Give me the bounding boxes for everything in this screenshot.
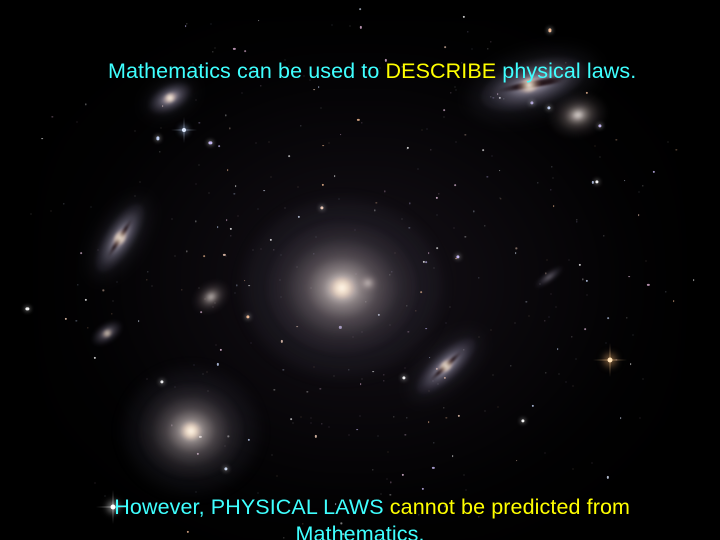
star	[445, 323, 446, 324]
star	[646, 261, 647, 262]
star	[482, 149, 484, 151]
star	[255, 143, 256, 144]
star	[138, 320, 140, 322]
caption-bottom-part1: However, PHYSICAL LAWS	[114, 495, 390, 519]
star	[298, 186, 299, 187]
star	[551, 293, 552, 294]
star	[514, 322, 515, 323]
star	[540, 284, 541, 285]
star	[227, 170, 229, 172]
star	[349, 435, 350, 436]
star	[493, 374, 494, 375]
star	[50, 211, 51, 212]
star	[361, 332, 362, 333]
caption-bottom-emphasis: cannot be predicted from	[390, 495, 630, 519]
star	[279, 280, 280, 281]
star	[547, 260, 548, 261]
star	[139, 181, 140, 182]
star	[112, 301, 113, 302]
star	[333, 376, 334, 377]
star	[553, 206, 555, 208]
star	[569, 259, 570, 260]
star	[575, 359, 576, 360]
caption-top-part2: physical laws.	[496, 59, 636, 83]
star	[41, 138, 43, 140]
star	[628, 276, 630, 278]
star	[174, 255, 175, 256]
star	[224, 446, 225, 447]
star	[592, 463, 593, 464]
star	[334, 176, 336, 178]
star	[331, 25, 332, 26]
star	[640, 418, 641, 419]
star	[235, 293, 236, 294]
star	[285, 207, 286, 208]
slide-canvas: Mathematics can be used to DESCRIBE phys…	[0, 0, 720, 540]
star	[296, 266, 297, 267]
star	[339, 198, 340, 199]
star	[455, 142, 456, 143]
star	[195, 184, 196, 185]
star	[211, 24, 212, 25]
star	[402, 219, 403, 220]
star	[352, 337, 353, 338]
star	[515, 252, 517, 254]
star	[552, 178, 553, 179]
star	[349, 26, 350, 27]
star	[217, 226, 219, 228]
star	[151, 285, 152, 286]
star	[263, 190, 265, 192]
star	[673, 300, 675, 302]
star	[360, 8, 362, 10]
star	[272, 454, 273, 455]
star	[437, 214, 438, 215]
star	[218, 145, 220, 147]
star	[436, 247, 438, 249]
star	[586, 294, 587, 295]
star	[310, 288, 311, 289]
star	[432, 380, 433, 381]
star	[407, 148, 408, 149]
star	[638, 214, 640, 216]
star	[417, 168, 418, 169]
star	[428, 422, 430, 424]
star	[204, 299, 205, 300]
star	[281, 255, 282, 256]
star	[429, 357, 431, 359]
star	[607, 317, 609, 319]
star	[322, 145, 324, 147]
star	[454, 184, 456, 186]
star	[340, 134, 342, 136]
star	[311, 422, 312, 423]
star	[311, 417, 312, 418]
star	[146, 378, 147, 379]
star	[499, 197, 500, 198]
star	[297, 326, 299, 328]
star	[573, 385, 574, 386]
star	[203, 373, 204, 374]
star	[545, 452, 546, 453]
star	[693, 279, 695, 281]
star	[171, 219, 172, 220]
star	[76, 122, 77, 123]
star	[174, 387, 175, 388]
star	[258, 20, 260, 22]
star	[208, 192, 209, 193]
star	[606, 343, 607, 344]
star	[428, 390, 429, 391]
star	[238, 216, 239, 217]
star	[329, 142, 330, 143]
star	[490, 330, 491, 331]
star	[484, 410, 485, 411]
star	[216, 344, 217, 345]
star	[600, 157, 601, 158]
star	[557, 348, 559, 350]
star	[455, 258, 457, 260]
star	[462, 16, 464, 18]
star	[362, 379, 363, 380]
star	[372, 371, 374, 373]
star	[624, 180, 626, 182]
star	[160, 128, 161, 129]
star	[198, 287, 199, 288]
star	[135, 131, 136, 132]
star	[555, 306, 556, 307]
star	[453, 228, 454, 229]
caption-top-emphasis: DESCRIBE	[386, 59, 497, 83]
star	[437, 383, 438, 384]
star	[359, 416, 360, 417]
star	[316, 236, 317, 237]
star	[248, 285, 250, 287]
star	[390, 324, 391, 325]
caption-bottom-part2: Mathematics.	[295, 522, 424, 540]
star	[356, 429, 358, 431]
star	[426, 262, 428, 264]
star	[290, 418, 292, 420]
star	[421, 130, 422, 131]
star	[388, 452, 389, 453]
star	[630, 363, 632, 365]
caption-top-part1: Mathematics can be used to	[108, 59, 386, 83]
star	[252, 249, 253, 250]
star	[116, 282, 117, 283]
star	[449, 306, 450, 307]
star	[80, 253, 82, 255]
star	[261, 248, 262, 249]
star	[420, 291, 422, 293]
star	[288, 156, 290, 158]
star	[31, 213, 32, 214]
star	[215, 302, 216, 303]
star	[185, 25, 187, 27]
star	[226, 220, 228, 222]
star	[498, 407, 499, 408]
star	[235, 186, 237, 188]
star	[268, 142, 269, 143]
star	[225, 255, 226, 256]
star	[642, 379, 643, 380]
star	[301, 416, 302, 417]
star	[584, 328, 586, 330]
star	[595, 145, 596, 146]
star	[135, 195, 136, 196]
star	[354, 229, 355, 230]
star	[378, 436, 379, 437]
star	[271, 176, 272, 177]
star	[97, 249, 98, 250]
star	[26, 307, 29, 310]
star	[356, 274, 357, 275]
star	[404, 367, 405, 368]
star	[428, 253, 430, 255]
star	[425, 328, 427, 330]
star	[200, 311, 202, 313]
star	[258, 208, 259, 209]
star	[499, 170, 501, 172]
star	[558, 374, 559, 375]
star	[479, 337, 480, 338]
star	[193, 365, 194, 366]
star	[198, 164, 199, 165]
star	[91, 206, 92, 207]
star	[516, 460, 518, 462]
caption-bottom: However, PHYSICAL LAWS cannot be predict…	[0, 466, 720, 540]
star	[620, 417, 622, 419]
star	[452, 455, 454, 457]
caption-top: Mathematics can be used to DESCRIBE phys…	[0, 30, 720, 113]
star	[491, 155, 492, 156]
star	[204, 255, 206, 257]
star	[244, 280, 246, 282]
star	[529, 315, 530, 316]
star	[638, 191, 639, 192]
star	[329, 426, 330, 427]
star	[434, 268, 435, 269]
star	[395, 252, 396, 253]
star	[633, 335, 634, 336]
star	[443, 116, 444, 117]
star	[207, 371, 208, 372]
star	[313, 367, 314, 368]
star	[667, 142, 668, 143]
star	[281, 297, 282, 298]
star	[208, 390, 209, 391]
star	[250, 342, 251, 343]
star	[213, 306, 214, 307]
star	[549, 317, 550, 318]
star	[565, 382, 566, 383]
star	[360, 384, 362, 386]
star	[426, 129, 427, 130]
star	[293, 423, 294, 424]
